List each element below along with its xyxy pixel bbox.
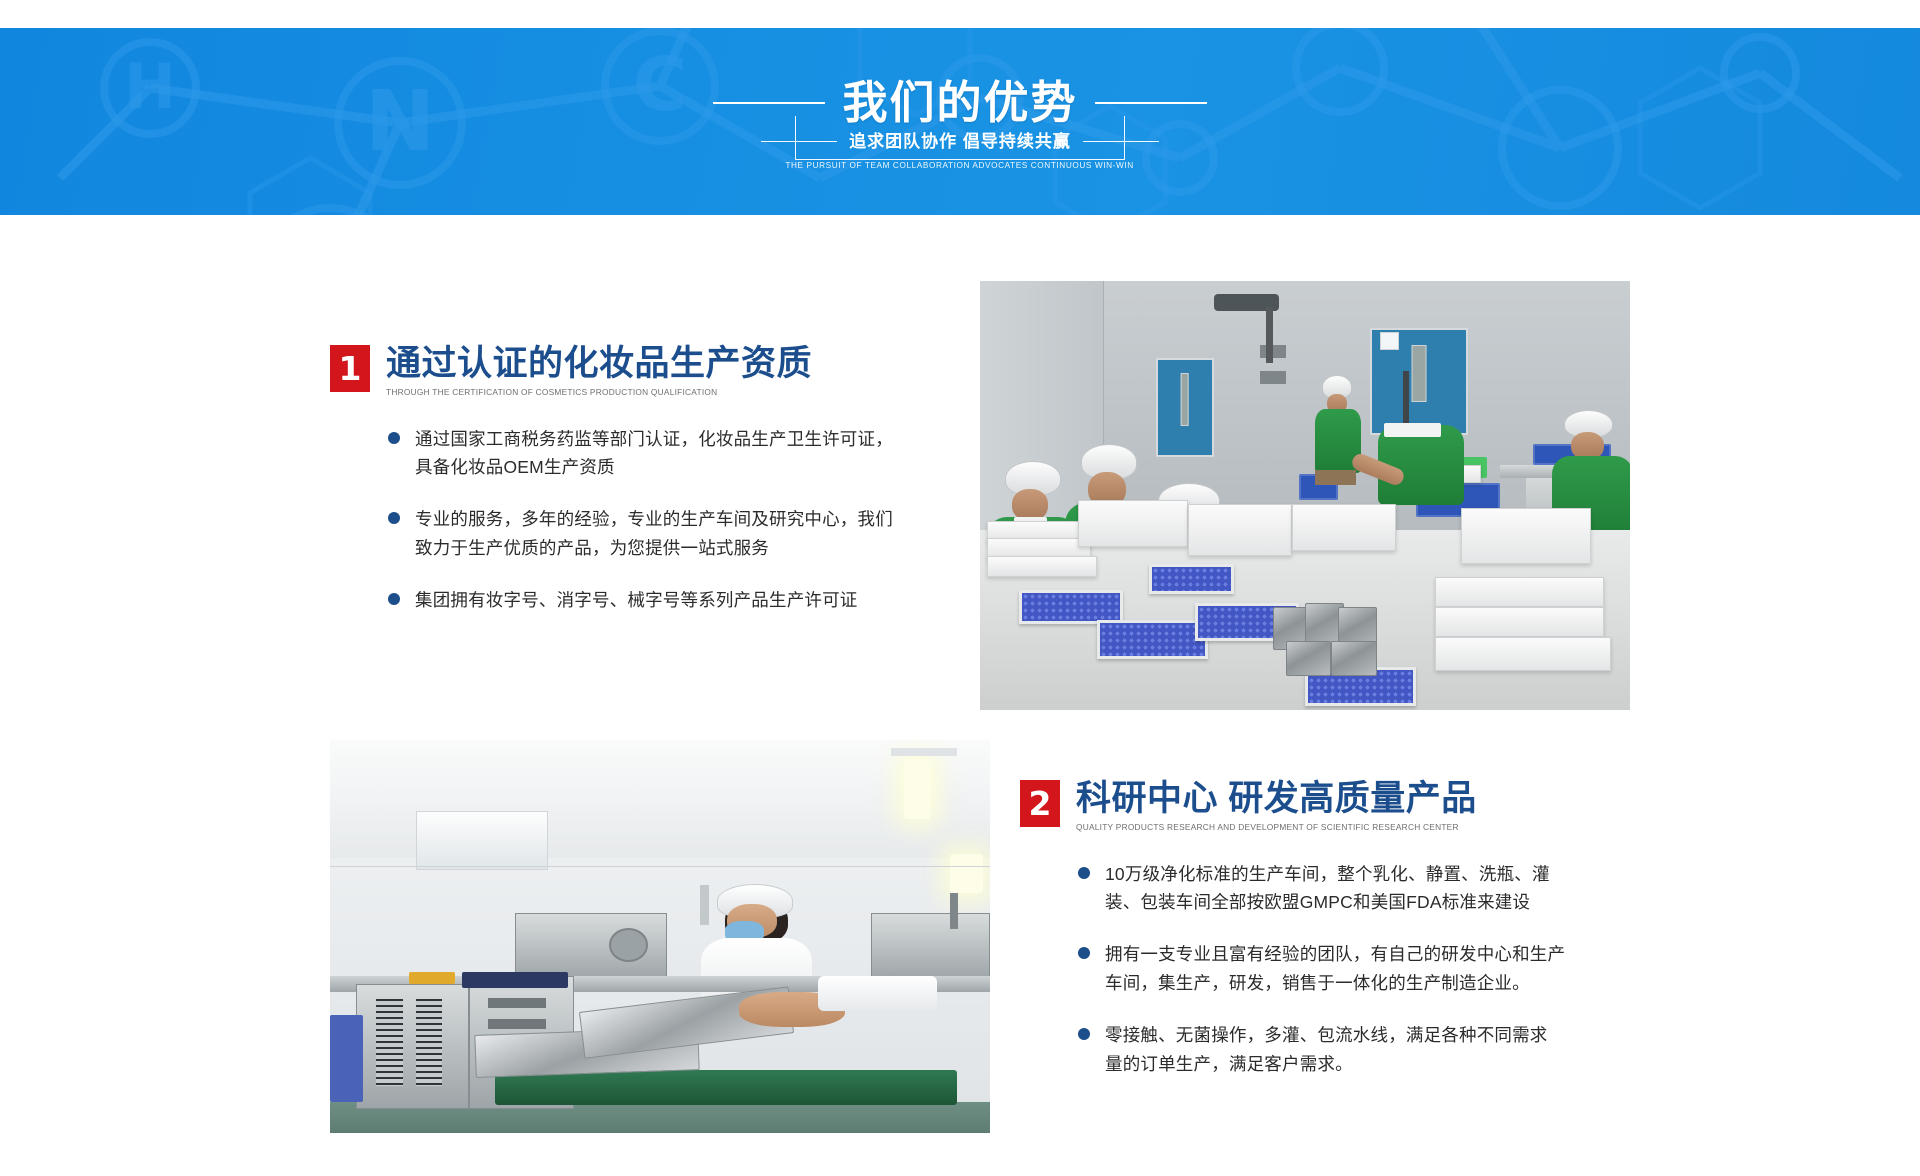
list-item: 拥有一支专业且富有经验的团队，有自己的研发中心和生产 车间，集生产，研发，销售于… [1078,940,1640,997]
bullet-text: 10万级净化标准的生产车间，整个乳化、静置、洗瓶、灌 装、包装车间全部按欧盟GM… [1105,860,1550,917]
banner-subtitle-row: 追求团队协作 倡导持续共赢 [761,133,1159,150]
subtitle-rule-right [1083,141,1159,142]
bullet-dot-icon [1078,867,1090,879]
bullet-text: 集团拥有妆字号、消字号、械字号等系列产品生产许可证 [415,586,858,614]
banner-subtitle: 追求团队协作 倡导持续共赢 [849,133,1071,150]
white-carton [1292,504,1396,551]
list-item: 集团拥有妆字号、消字号、械字号等系列产品生产许可证 [388,586,950,614]
page-banner: H N C 我们的优势 追求团队协作 倡导持续共赢 THE PURSUIT OF… [0,28,1920,215]
subtitle-rule-left [761,141,837,142]
bullet-dot-icon [1078,1028,1090,1040]
section-1-text: 1 通过认证的化妆品生产资质 THROUGH THE CERTIFICATION… [330,345,950,615]
section-2-english-subtitle: QUALITY PRODUCTS RESEARCH AND DEVELOPMEN… [1076,822,1469,832]
foil-pack-stack [1286,641,1332,675]
section-1-photo [980,281,1630,710]
white-carton [1188,504,1292,555]
list-item: 通过国家工商税务药监等部门认证，化妆品生产卫生许可证， 具备化妆品OEM生产资质 [388,425,950,482]
white-carton [987,556,1098,577]
banner-english-subtitle: THE PURSUIT OF TEAM COLLABORATION ADVOCA… [786,160,1134,170]
lab-machine-right [871,913,990,980]
banner-title-row: 我们的优势 [713,80,1206,125]
white-carton [1435,637,1611,671]
conveyor-belt [495,1070,957,1105]
section-1-english-subtitle: THROUGH THE CERTIFICATION OF COSMETICS P… [386,387,803,397]
white-carton [1078,500,1189,547]
wall-window [416,811,548,870]
section-1-title: 通过认证的化妆品生产资质 [386,345,812,383]
ceiling-lamp-right [904,760,930,819]
section-2-title: 科研中心 研发高质量产品 [1076,780,1477,818]
section-2-bullet-list: 10万级净化标准的生产车间，整个乳化、静置、洗瓶、灌 装、包装车间全部按欧盟GM… [1078,860,1640,1078]
bullet-dot-icon [388,512,400,524]
machine-vent-grille [416,999,442,1085]
ceiling-lamp-far [950,854,983,893]
bullet-text: 通过国家工商税务药监等部门认证，化妆品生产卫生许可证， 具备化妆品OEM生产资质 [415,425,893,482]
white-carton [1435,607,1604,637]
white-carton [1435,577,1604,607]
title-rule-right [1095,102,1207,104]
section-1-heading: 1 通过认证的化妆品生产资质 THROUGH THE CERTIFICATION… [330,345,950,397]
machine-vent-grille [376,999,402,1085]
list-item: 专业的服务，多年的经验，专业的生产车间及研究中心，我们 致力于生产优质的产品，为… [388,505,950,562]
section-1-number-badge: 1 [330,345,370,392]
sealing-machine-body [356,984,468,1110]
list-item: 零接触、无菌操作，多灌、包流水线，满足各种不同需求 量的订单生产，满足客户需求。 [1078,1021,1640,1078]
bullet-text: 拥有一支专业且富有经验的团队，有自己的研发中心和生产 车间，集生产，研发，销售于… [1105,940,1565,997]
blue-vial-tray [1097,620,1208,659]
section-2-heading: 2 科研中心 研发高质量产品 QUALITY PRODUCTS RESEARCH… [1020,780,1640,832]
section-2-photo [330,740,990,1133]
white-carton [1461,508,1591,564]
bullet-dot-icon [1078,947,1090,959]
section-2-number-badge: 2 [1020,780,1060,827]
foil-pack-stack [1331,641,1377,675]
bullet-text: 零接触、无菌操作，多灌、包流水线，满足各种不同需求 量的订单生产，满足客户需求。 [1105,1021,1548,1078]
title-rule-left [713,102,825,104]
bullet-dot-icon [388,432,400,444]
cleanroom-door-left [1156,358,1215,457]
list-item: 10万级净化标准的生产车间，整个乳化、静置、洗瓶、灌 装、包装车间全部按欧盟GM… [1078,860,1640,917]
bullet-dot-icon [388,593,400,605]
section-2-text: 2 科研中心 研发高质量产品 QUALITY PRODUCTS RESEARCH… [1020,780,1640,1078]
bullet-text: 专业的服务，多年的经验，专业的生产车间及研究中心，我们 致力于生产优质的产品，为… [415,505,893,562]
lab-machine-left [515,913,667,980]
blue-vial-tray [1149,564,1234,594]
banner-title: 我们的优势 [842,80,1077,125]
section-1-bullet-list: 通过国家工商税务药监等部门认证，化妆品生产卫生许可证， 具备化妆品OEM生产资质… [388,425,950,615]
